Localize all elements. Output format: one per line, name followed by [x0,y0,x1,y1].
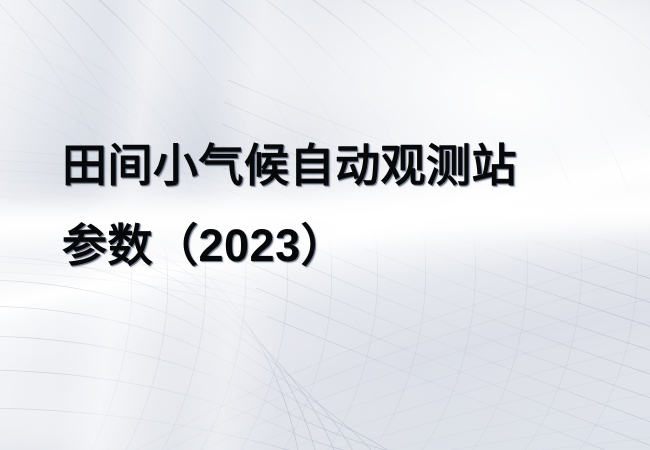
title-line-2: 参数（2023） [62,206,602,286]
title-line-1: 田间小气候自动观测站 [62,126,602,206]
slide-title: 田间小气候自动观测站 参数（2023） [62,126,602,286]
slide-canvas: 田间小气候自动观测站 参数（2023） [0,0,650,450]
